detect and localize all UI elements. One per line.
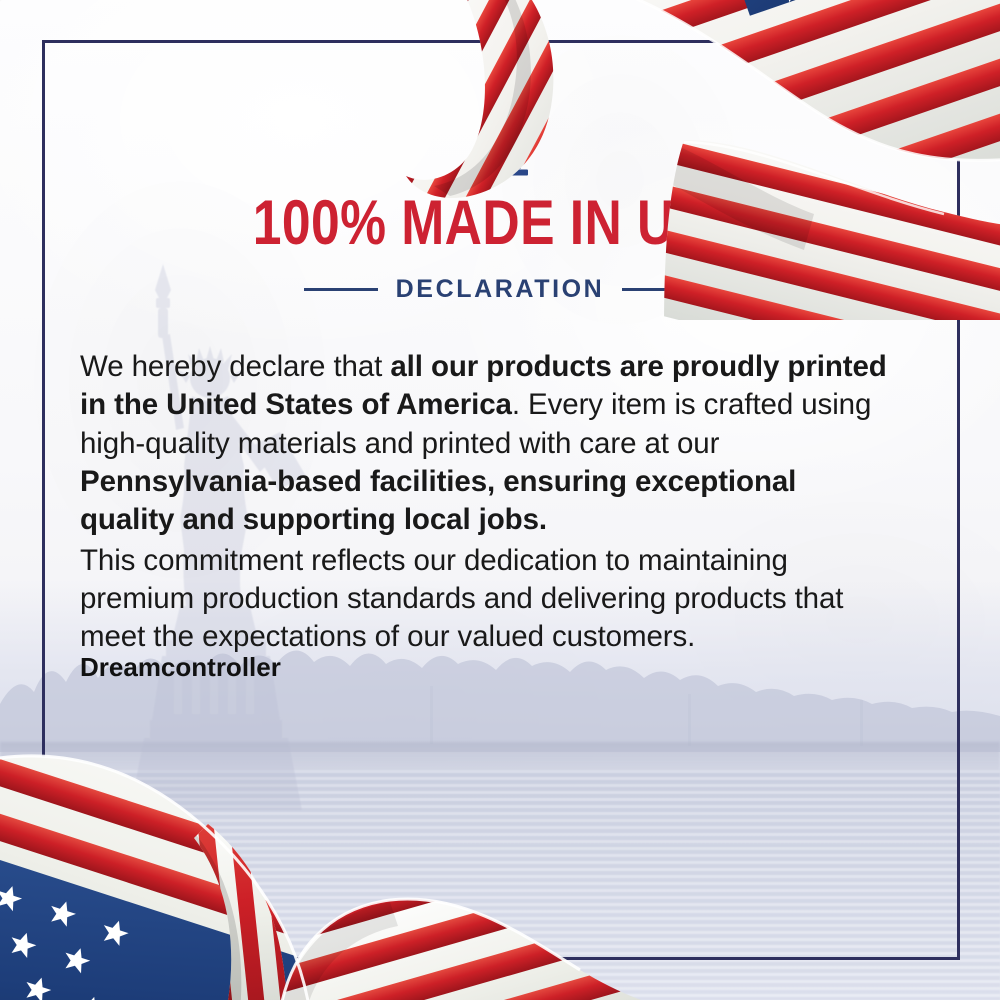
made-in-usa-declaration-poster: 100% MADE IN USA DECLARATION We hereby d… xyxy=(0,0,1000,1000)
declaration-paragraph-1: We hereby declare that all our products … xyxy=(80,348,892,540)
declaration-body: We hereby declare that all our products … xyxy=(80,348,892,657)
rule-right xyxy=(622,288,696,291)
para1-seg-3: Pennsylvania-based facilities, ensuring … xyxy=(80,465,796,536)
poster-header: 100% MADE IN USA DECLARATION xyxy=(0,118,1000,304)
rule-left xyxy=(304,288,378,291)
declaration-paragraph-2: This commitment reflects our dedication … xyxy=(80,542,892,657)
subtitle-row: DECLARATION xyxy=(0,275,1000,304)
para1-seg-0: We hereby declare that xyxy=(80,350,390,383)
capitol-dome-icon xyxy=(464,118,536,178)
page-subtitle: DECLARATION xyxy=(396,275,605,304)
signature-brand-name: Dreamcontroller xyxy=(80,652,281,683)
page-title: 100% MADE IN USA xyxy=(90,192,910,255)
